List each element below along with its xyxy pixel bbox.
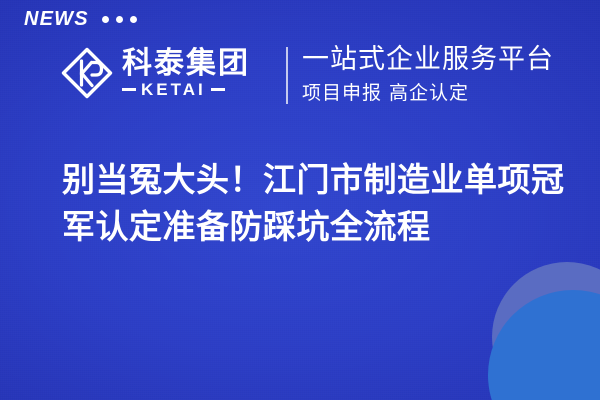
brand-text: 科泰集团 KETAI	[122, 48, 250, 98]
headline-title: 别当冤大头！江门市制造业单项冠军认定准备防踩坑全流程	[62, 156, 572, 250]
dot-2-icon	[116, 16, 123, 23]
brand-rule-right-icon	[211, 88, 225, 91]
tagline-secondary: 项目申报 高企认定	[302, 82, 554, 105]
news-dots-icon	[102, 16, 137, 23]
dot-1-icon	[102, 16, 109, 23]
dot-3-icon	[130, 16, 137, 23]
brand-name-en: KETAI	[141, 81, 206, 98]
vertical-divider	[286, 47, 288, 104]
tagline-block: 一站式企业服务平台 项目申报 高企认定	[302, 44, 554, 105]
ketai-diamond-monogram-icon	[58, 44, 116, 102]
brand-rule-left-icon	[122, 88, 136, 91]
brand-name-en-row: KETAI	[122, 81, 250, 98]
news-kicker: NEWS	[24, 9, 137, 29]
news-label: NEWS	[24, 9, 89, 29]
news-banner: NEWS 科泰集团	[0, 0, 600, 400]
tagline-primary: 一站式企业服务平台	[302, 44, 554, 76]
brand-header: 科泰集团 KETAI	[58, 44, 250, 102]
brand-name-cn: 科泰集团	[122, 48, 250, 80]
